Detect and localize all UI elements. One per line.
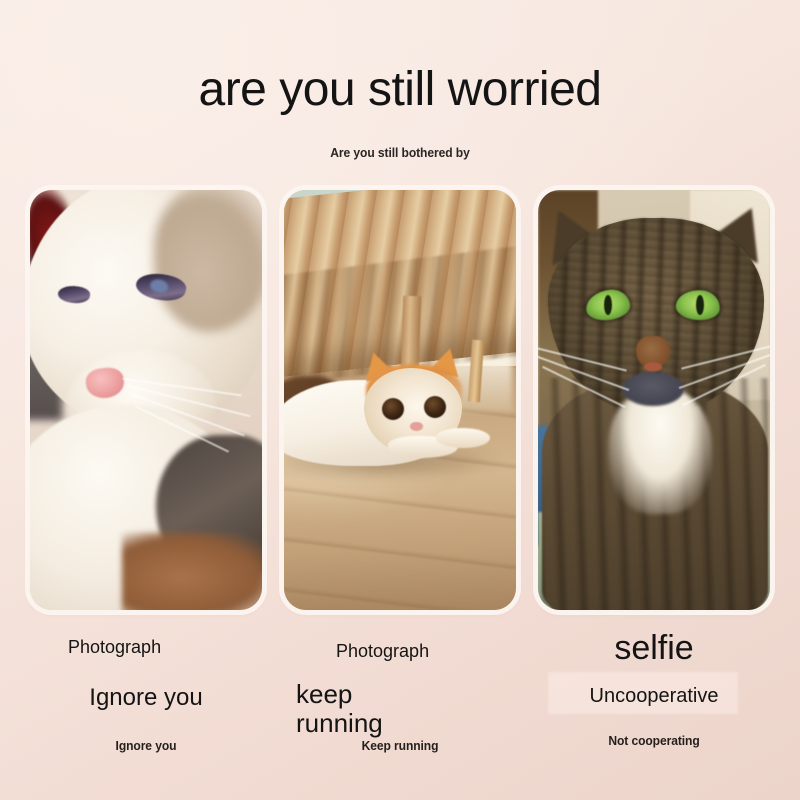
caption-small-1: Ignore you <box>38 738 254 753</box>
photo-card-1[interactable] <box>30 190 262 610</box>
cat-photo-tabby <box>538 190 770 610</box>
poster-canvas: are you still worried Are you still both… <box>0 0 800 800</box>
photo-card-2[interactable] <box>284 190 516 610</box>
caption-small-3: Not cooperating <box>546 733 762 748</box>
caption-column-3: selfie Uncooperative Not cooperating <box>538 628 770 798</box>
page-title: are you still worried <box>0 62 800 118</box>
caption-kind-3: selfie <box>538 628 770 668</box>
caption-main-3: Uncooperative <box>538 684 770 708</box>
cat-photo-under-bed <box>284 190 516 610</box>
caption-row: Photograph Ignore you Ignore you Photogr… <box>0 628 800 798</box>
caption-kind-1: Photograph <box>68 636 168 658</box>
caption-column-1: Photograph Ignore you Ignore you <box>30 628 262 798</box>
page-subtitle: Are you still bothered by <box>28 144 772 162</box>
caption-small-2: Keep running <box>292 738 508 753</box>
cat-photo-white <box>30 190 262 610</box>
caption-main-1: Ignore you <box>30 684 262 712</box>
caption-main-2: keep running <box>296 680 398 738</box>
photo-card-3[interactable] <box>538 190 770 610</box>
caption-column-2: Photograph keep running Keep running <box>284 628 516 798</box>
photo-card-row <box>0 190 800 610</box>
caption-kind-2: Photograph <box>336 640 434 662</box>
